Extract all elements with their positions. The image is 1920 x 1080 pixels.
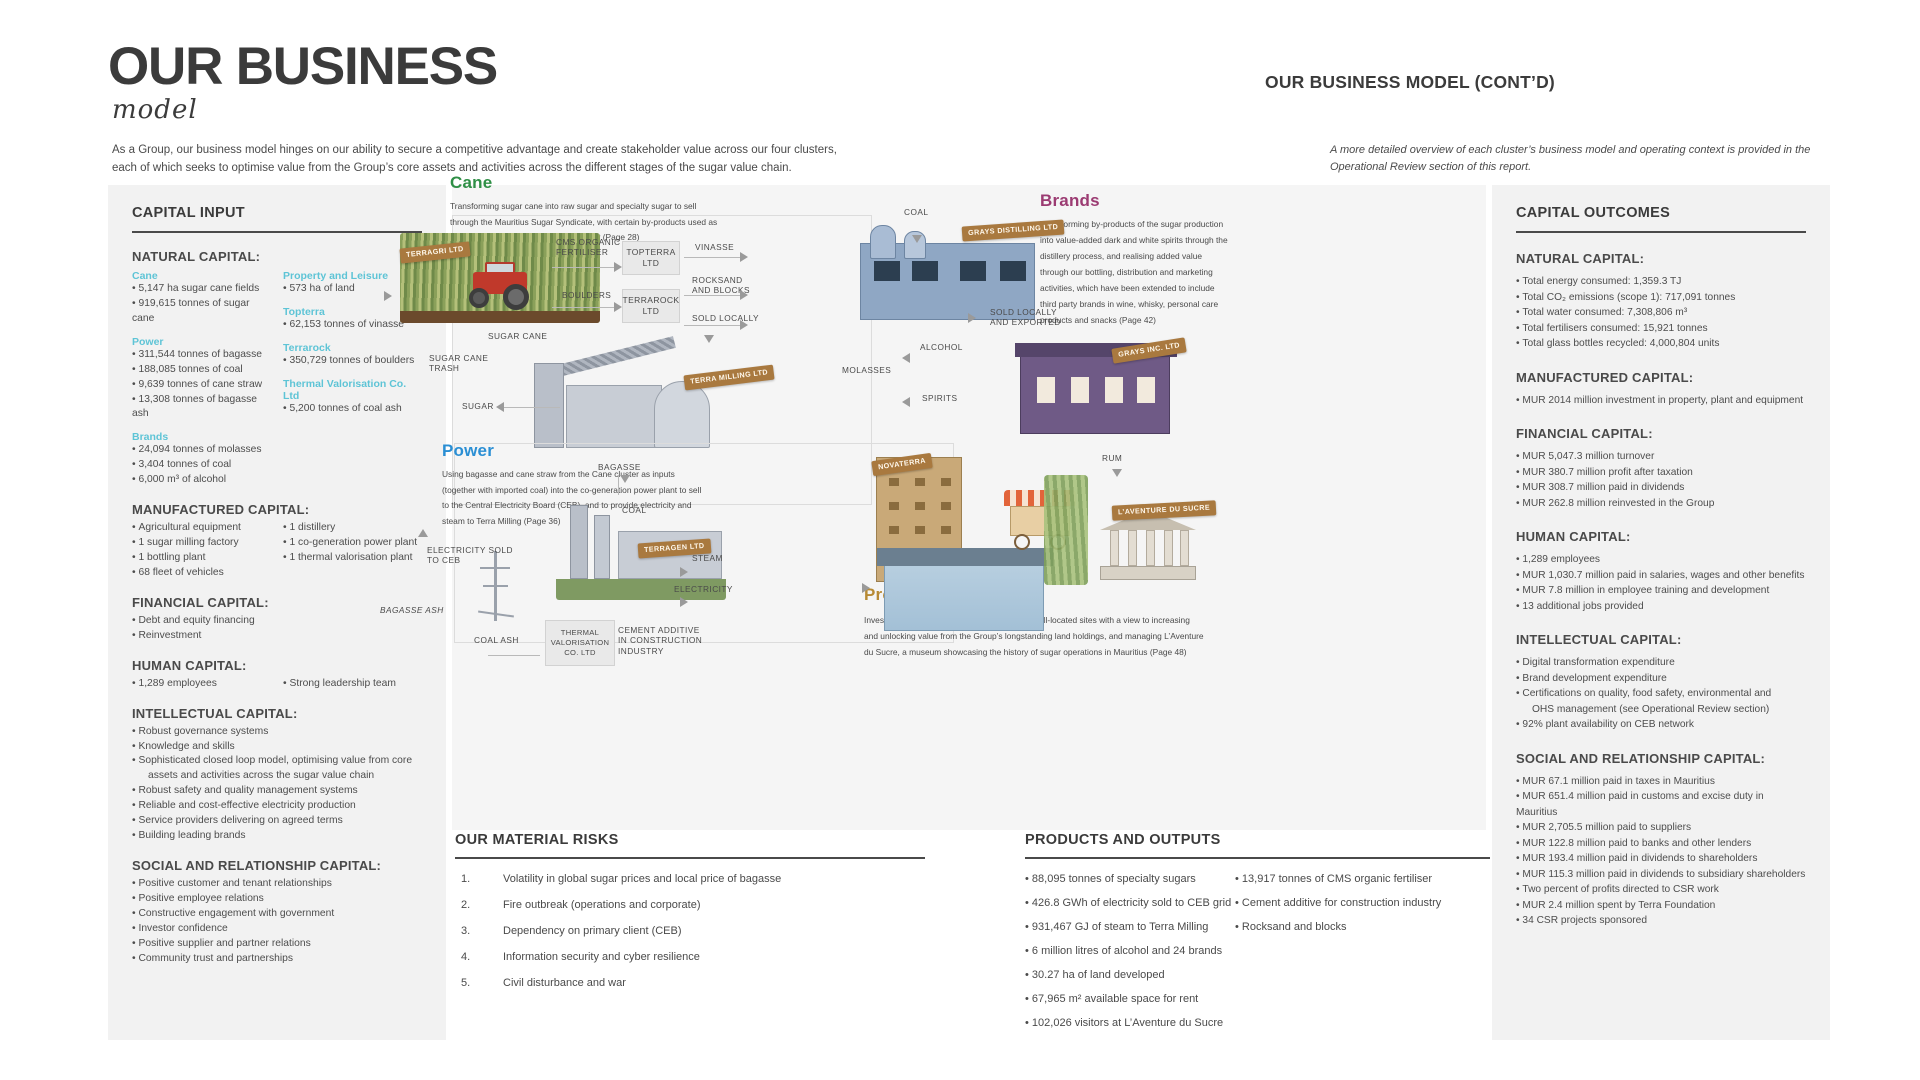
flow-label-electricity-sold-to-ceb: ELECTRICITY SOLDTO CEB <box>427 545 513 566</box>
list-item: 350,729 tonnes of boulders <box>283 354 422 369</box>
capital-outcomes-panel: CAPITAL OUTCOMES NATURAL CAPITAL: Total … <box>1492 185 1830 1040</box>
connector-line <box>552 307 618 308</box>
list-item-continuation: OHS management (see Operational Review s… <box>1516 702 1806 718</box>
connector-line <box>488 655 540 656</box>
divider <box>455 857 925 859</box>
list-item: Agricultural equipment <box>132 521 271 536</box>
page-title: OUR BUSINESS <box>108 40 497 93</box>
divider <box>1025 857 1490 859</box>
capital-input-heading: CAPITAL INPUT <box>132 205 422 221</box>
list-item: 919,615 tonnes of sugar cane <box>132 297 271 327</box>
flow-label-steam: STEAM <box>692 553 723 563</box>
divider <box>1516 231 1806 233</box>
list-power: 311,544 tonnes of bagasse 188,085 tonnes… <box>132 348 271 423</box>
list-item: 9,639 tonnes of cane straw <box>132 378 271 393</box>
page-root: OUR BUSINESS model OUR BUSINESS MODEL (C… <box>0 0 1920 1080</box>
flow-label-coal-power: COAL <box>622 505 646 515</box>
arrow-down-icon <box>704 335 714 343</box>
list-brands: 24,094 tonnes of molasses 3,404 tonnes o… <box>132 443 271 488</box>
list-outcome-manufactured: MUR 2014 million investment in property,… <box>1516 393 1806 409</box>
group-label-brands: Brands <box>132 431 271 443</box>
business-model-diagram: Cane Transforming sugar cane into raw su… <box>452 185 1486 830</box>
list-item: MUR 651.4 million paid in customs and ex… <box>1516 789 1806 820</box>
barrel-house-illustration <box>1020 352 1170 434</box>
list-item: Reinvestment <box>132 629 422 644</box>
flow-label-sugar-cane: SUGAR CANE <box>488 331 547 341</box>
intellectual-capital-heading: INTELLECTUAL CAPITAL: <box>132 706 422 721</box>
list-item: Strong leadership team <box>283 677 422 692</box>
list-item: Robust governance systems <box>132 725 422 740</box>
list-item: Total fertilisers consumed: 15,921 tonne… <box>1516 321 1806 337</box>
list-item: MUR 122.8 million paid to banks and othe… <box>1516 836 1806 852</box>
flow-label-spirits: SPIRITS <box>922 393 957 403</box>
list-item: MUR 115.3 million paid in dividends to s… <box>1516 867 1806 883</box>
list-item: MUR 2,705.5 million paid to suppliers <box>1516 820 1806 836</box>
list-item: Constructive engagement with government <box>132 907 422 922</box>
flow-label-bagasse: BAGASSE <box>598 462 641 472</box>
flow-label-cement-additive: CEMENT ADDITIVEIN CONSTRUCTIONINDUSTRY <box>618 625 702 656</box>
connector-line <box>500 407 560 408</box>
list-financial: Debt and equity financing Reinvestment <box>132 614 422 644</box>
flow-label-electricity: ELECTRICITY <box>674 584 733 594</box>
list-item: Information security and cyber resilienc… <box>455 951 925 963</box>
cluster-title-cane: Cane <box>450 173 492 193</box>
cluster-body-brands: Transforming by-products of the sugar pr… <box>1040 217 1230 329</box>
list-item: 24,094 tonnes of molasses <box>132 443 271 458</box>
list-item: 5,200 tonnes of coal ash <box>283 402 422 417</box>
list-outcome-intellectual: Digital transformation expenditure Brand… <box>1516 655 1806 733</box>
list-item: Service providers delivering on agreed t… <box>132 814 422 829</box>
flow-label-bagasse-ash: BAGASSE ASH <box>380 605 444 615</box>
cluster-title-power: Power <box>442 441 494 461</box>
arrow-right-icon <box>384 291 392 301</box>
list-item: Two percent of profits directed to CSR w… <box>1516 882 1806 898</box>
list-intellectual: Robust governance systems Knowledge and … <box>132 725 422 844</box>
list-item: Volatility in global sugar prices and lo… <box>455 873 925 885</box>
node-thermal-valorisation: THERMAL VALORISATION CO. LTD <box>545 620 615 666</box>
list-item: 30.27 ha of land developed <box>1025 969 1235 981</box>
group-label-thermal: Thermal Valorisation Co. Ltd <box>283 378 422 402</box>
arrow-up-icon <box>418 529 428 537</box>
list-outcome-human: 1,289 employees MUR 1,030.7 million paid… <box>1516 552 1806 614</box>
list-item: Total energy consumed: 1,359.3 TJ <box>1516 274 1806 290</box>
list-item: MUR 308.7 million paid in dividends <box>1516 480 1806 496</box>
products-outputs-heading: PRODUCTS AND OUTPUTS <box>1025 832 1490 848</box>
village-illustration <box>884 561 1044 631</box>
arrow-right-icon <box>614 302 622 312</box>
list-item: Digital transformation expenditure <box>1516 655 1806 671</box>
list-item: MUR 7.8 million in employee training and… <box>1516 583 1806 599</box>
group-label-power: Power <box>132 336 271 348</box>
products-outputs-section: PRODUCTS AND OUTPUTS 88,095 tonnes of sp… <box>1025 832 1490 1041</box>
list-item: Fire outbreak (operations and corporate) <box>455 899 925 911</box>
flow-label-boulders: BOULDERS <box>562 290 611 300</box>
arrow-right-icon <box>740 290 748 300</box>
list-item: Rocksand and blocks <box>1235 921 1441 933</box>
natural-capital-heading: NATURAL CAPITAL: <box>132 249 422 264</box>
list-item: 88,095 tonnes of specialty sugars <box>1025 873 1235 885</box>
arrow-right-icon <box>614 262 622 272</box>
group-label-cane: Cane <box>132 270 271 282</box>
arrow-right-icon <box>862 583 870 593</box>
list-thermal: 5,200 tonnes of coal ash <box>283 402 422 417</box>
list-item-continuation: assets and activities across the sugar v… <box>132 769 422 784</box>
connector-line <box>618 475 619 495</box>
list-item: Brand development expenditure <box>1516 671 1806 687</box>
outcome-manufactured-heading: MANUFACTURED CAPITAL: <box>1516 370 1806 385</box>
tractor-illustration <box>455 262 541 308</box>
list-item: MUR 67.1 million paid in taxes in Maurit… <box>1516 774 1806 790</box>
cluster-title-brands: Brands <box>1040 191 1100 211</box>
list-item: Debt and equity financing <box>132 614 422 629</box>
flow-label-sugar: SUGAR <box>462 401 494 411</box>
list-item: Cement additive for construction industr… <box>1235 897 1441 909</box>
list-item: Robust safety and quality management sys… <box>132 784 422 799</box>
list-item: Positive supplier and partner relations <box>132 937 422 952</box>
group-label-terrarock: Terrarock <box>283 342 422 354</box>
divider <box>132 231 422 233</box>
arrow-right-icon <box>680 567 688 577</box>
arrow-left-icon <box>902 397 910 407</box>
list-products-left: 88,095 tonnes of specialty sugars 426.8 … <box>1025 873 1235 1029</box>
list-item: 6,000 m³ of alcohol <box>132 473 271 488</box>
list-item: Investor confidence <box>132 922 422 937</box>
list-item: 1,289 employees <box>1516 552 1806 568</box>
list-item: Reliable and cost-effective electricity … <box>132 799 422 814</box>
capital-outcomes-heading: CAPITAL OUTCOMES <box>1516 205 1806 221</box>
material-risks-list: Volatility in global sugar prices and lo… <box>455 873 925 989</box>
list-item: Certifications on quality, food safety, … <box>1516 686 1806 702</box>
connector-line <box>684 257 744 258</box>
list-item: MUR 1,030.7 million paid in salaries, wa… <box>1516 568 1806 584</box>
diagram-canvas: Cane Transforming sugar cane into raw su… <box>452 185 1486 830</box>
list-item: 1 co-generation power plant <box>283 536 422 551</box>
list-manufactured-right: 1 distillery 1 co-generation power plant… <box>283 521 422 566</box>
outcome-intellectual-heading: INTELLECTUAL CAPITAL: <box>1516 632 1806 647</box>
list-item: 426.8 GWh of electricity sold to CEB gri… <box>1025 897 1235 909</box>
list-item: 311,544 tonnes of bagasse <box>132 348 271 363</box>
social-capital-heading: SOCIAL AND RELATIONSHIP CAPITAL: <box>132 858 422 873</box>
cane-stalk-illustration <box>1044 475 1088 585</box>
list-item: 13,917 tonnes of CMS organic fertiliser <box>1235 873 1441 885</box>
list-item: 67,965 m² available space for rent <box>1025 993 1235 1005</box>
list-item: 1 bottling plant <box>132 551 271 566</box>
flow-label-vinasse: VINASSE <box>695 242 734 252</box>
list-item: Positive customer and tenant relationshi… <box>132 877 422 892</box>
list-item: MUR 262.8 million reinvested in the Grou… <box>1516 496 1806 512</box>
list-terrarock: 350,729 tonnes of boulders <box>283 354 422 369</box>
list-item: 92% plant availability on CEB network <box>1516 717 1806 733</box>
list-item: Total CO₂ emissions (scope 1): 717,091 t… <box>1516 290 1806 306</box>
list-outcome-social: MUR 67.1 million paid in taxes in Maurit… <box>1516 774 1806 929</box>
list-item: 188,085 tonnes of coal <box>132 363 271 378</box>
list-outcome-financial: MUR 5,047.3 million turnover MUR 380.7 m… <box>1516 449 1806 511</box>
flow-label-rum: RUM <box>1102 453 1122 463</box>
connector-line <box>684 325 744 326</box>
arrow-right-icon <box>740 320 748 330</box>
manufactured-capital-heading: MANUFACTURED CAPITAL: <box>132 502 422 517</box>
list-item: Total water consumed: 7,308,806 m³ <box>1516 305 1806 321</box>
flow-label-coal-top: COAL <box>904 207 928 217</box>
list-outcome-natural: Total energy consumed: 1,359.3 TJ Total … <box>1516 274 1806 352</box>
list-item: 1 sugar milling factory <box>132 536 271 551</box>
arrow-right-icon <box>680 597 688 607</box>
connector-line <box>552 267 618 268</box>
museum-illustration <box>1100 510 1196 580</box>
arrow-left-icon <box>496 402 504 412</box>
list-item: MUR 380.7 million profit after taxation <box>1516 465 1806 481</box>
list-item: MUR 2014 million investment in property,… <box>1516 393 1806 409</box>
node-terrarock: TERRAROCK LTD <box>622 289 680 323</box>
human-capital-heading: HUMAN CAPITAL: <box>132 658 422 673</box>
flow-label-sold-locally-and-exported: SOLD LOCALLYAND EXPORTED <box>990 307 1061 328</box>
page-subtitle: model <box>112 95 198 125</box>
natural-capital-left: Cane 5,147 ha sugar cane fields 919,615 … <box>132 268 271 488</box>
list-item: Positive employee relations <box>132 892 422 907</box>
outcome-social-heading: SOCIAL AND RELATIONSHIP CAPITAL: <box>1516 751 1806 766</box>
list-item: 1,289 employees <box>132 677 271 692</box>
flow-label-cms-organic-fertiliser: CMS ORGANICFERTILISER <box>556 237 620 258</box>
header-right-title: OUR BUSINESS MODEL (CONT’D) <box>1130 72 1690 93</box>
arrow-right-icon <box>740 252 748 262</box>
list-cane: 5,147 ha sugar cane fields 919,615 tonne… <box>132 282 271 327</box>
list-item: MUR 2.4 million spent by Terra Foundatio… <box>1516 898 1806 914</box>
distillery-illustration <box>860 225 1035 320</box>
list-human-left: 1,289 employees <box>132 677 271 692</box>
list-item: 1 thermal valorisation plant <box>283 551 422 566</box>
flow-label-alcohol: ALCOHOL <box>920 342 963 352</box>
list-item: 34 CSR projects sponsored <box>1516 913 1806 929</box>
flow-label-molasses: MOLASSES <box>842 365 891 375</box>
list-item: MUR 193.4 million paid in dividends to s… <box>1516 851 1806 867</box>
material-risks-section: OUR MATERIAL RISKS Volatility in global … <box>455 832 925 1003</box>
list-item: MUR 5,047.3 million turnover <box>1516 449 1806 465</box>
connector-line <box>684 295 744 296</box>
arrow-down-icon <box>1112 469 1122 477</box>
list-item: 102,026 visitors at L’Aventure du Sucre <box>1025 1017 1235 1029</box>
list-item: 6 million litres of alcohol and 24 brand… <box>1025 945 1235 957</box>
list-human-right: Strong leadership team <box>283 677 422 692</box>
list-products-right: 13,917 tonnes of CMS organic fertiliser … <box>1235 873 1441 933</box>
list-item: 5,147 ha sugar cane fields <box>132 282 271 297</box>
list-item: Sophisticated closed loop model, optimis… <box>132 754 422 769</box>
list-item: 68 fleet of vehicles <box>132 566 271 581</box>
arrow-down-icon <box>620 475 630 483</box>
sign-laventure: L’AVENTURE DU SUCRE <box>1112 500 1217 520</box>
arrow-down-icon <box>912 235 922 243</box>
list-item: 13,308 tonnes of bagasse ash <box>132 393 271 423</box>
flow-label-sold-locally: SOLD LOCALLY <box>692 313 759 323</box>
financial-capital-heading: FINANCIAL CAPITAL: <box>132 595 422 610</box>
list-item: Building leading brands <box>132 829 422 844</box>
list-item: Civil disturbance and war <box>455 977 925 989</box>
outcome-human-heading: HUMAN CAPITAL: <box>1516 529 1806 544</box>
arrow-left-icon <box>902 353 910 363</box>
list-item: 931,467 GJ of steam to Terra Milling <box>1025 921 1235 933</box>
list-item: Total glass bottles recycled: 4,000,804 … <box>1516 336 1806 352</box>
flow-label-coal-ash: COAL ASH <box>474 635 519 645</box>
outcome-natural-heading: NATURAL CAPITAL: <box>1516 251 1806 266</box>
outcome-financial-heading: FINANCIAL CAPITAL: <box>1516 426 1806 441</box>
list-item: Community trust and partnerships <box>132 952 422 967</box>
list-item: 13 additional jobs provided <box>1516 599 1806 615</box>
list-item: 1 distillery <box>283 521 422 536</box>
list-item: 3,404 tonnes of coal <box>132 458 271 473</box>
list-social: Positive customer and tenant relationshi… <box>132 877 422 967</box>
header-note: A more detailed overview of each cluster… <box>1330 142 1820 176</box>
arrow-right-icon <box>968 313 976 323</box>
list-item: Knowledge and skills <box>132 740 422 755</box>
list-item: Dependency on primary client (CEB) <box>455 925 925 937</box>
list-manufactured-left: Agricultural equipment 1 sugar milling f… <box>132 521 271 581</box>
node-topterra: TOPTERRA LTD <box>622 241 680 275</box>
material-risks-heading: OUR MATERIAL RISKS <box>455 832 925 848</box>
flow-label-sugar-cane-trash: SUGAR CANETRASH <box>429 353 488 374</box>
